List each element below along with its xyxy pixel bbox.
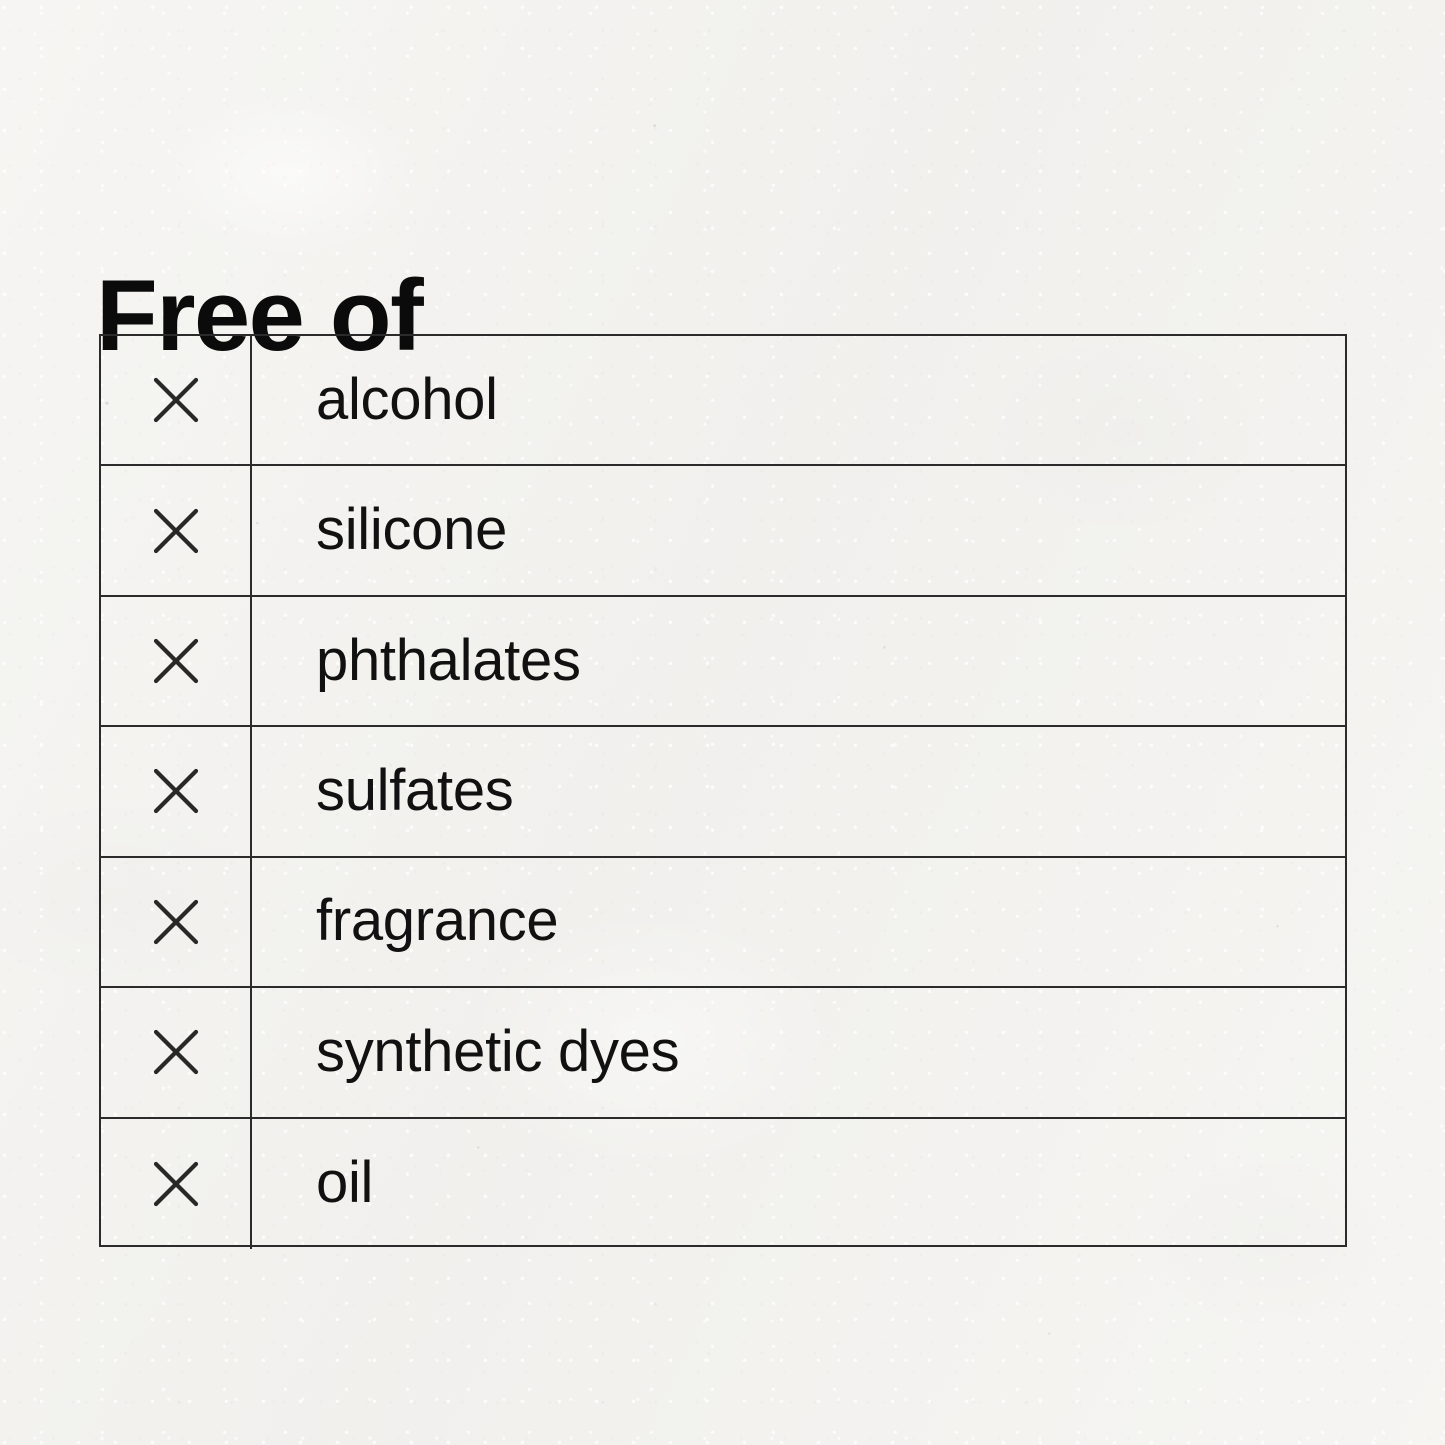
- x-mark-icon: [151, 1159, 201, 1209]
- table-row: phthalates: [101, 597, 1345, 727]
- exclusion-label-cell: sulfates: [252, 727, 1345, 855]
- table-row: synthetic dyes: [101, 988, 1345, 1118]
- x-mark-icon: [151, 897, 201, 947]
- x-mark-icon: [151, 1027, 201, 1077]
- exclusion-label: fragrance: [316, 891, 558, 952]
- ingredient-exclusions-card: Free of alcohol silicone: [0, 0, 1445, 1445]
- exclusion-mark-cell: [101, 1119, 252, 1249]
- exclusion-label: sulfates: [316, 761, 514, 822]
- exclusion-label-cell: silicone: [252, 466, 1345, 594]
- exclusion-mark-cell: [101, 988, 252, 1116]
- exclusion-label-cell: oil: [252, 1119, 1345, 1249]
- table-row: alcohol: [101, 336, 1345, 466]
- exclusion-mark-cell: [101, 336, 252, 464]
- exclusion-label-cell: alcohol: [252, 336, 1345, 464]
- exclusion-label: phthalates: [316, 631, 581, 692]
- x-mark-icon: [151, 375, 201, 425]
- exclusion-mark-cell: [101, 466, 252, 594]
- x-mark-icon: [151, 636, 201, 686]
- table-row: sulfates: [101, 727, 1345, 857]
- table-row: fragrance: [101, 858, 1345, 988]
- table-row: silicone: [101, 466, 1345, 596]
- free-of-table: alcohol silicone phthalate: [99, 334, 1347, 1247]
- x-mark-icon: [151, 766, 201, 816]
- table-row: oil: [101, 1119, 1345, 1249]
- exclusion-label-cell: synthetic dyes: [252, 988, 1345, 1116]
- x-mark-icon: [151, 506, 201, 556]
- exclusion-label: synthetic dyes: [316, 1022, 679, 1083]
- exclusion-label-cell: phthalates: [252, 597, 1345, 725]
- exclusion-label: oil: [316, 1153, 373, 1214]
- exclusion-label: alcohol: [316, 370, 498, 431]
- exclusion-mark-cell: [101, 858, 252, 986]
- exclusion-mark-cell: [101, 727, 252, 855]
- exclusion-mark-cell: [101, 597, 252, 725]
- exclusion-label-cell: fragrance: [252, 858, 1345, 986]
- exclusion-label: silicone: [316, 500, 507, 561]
